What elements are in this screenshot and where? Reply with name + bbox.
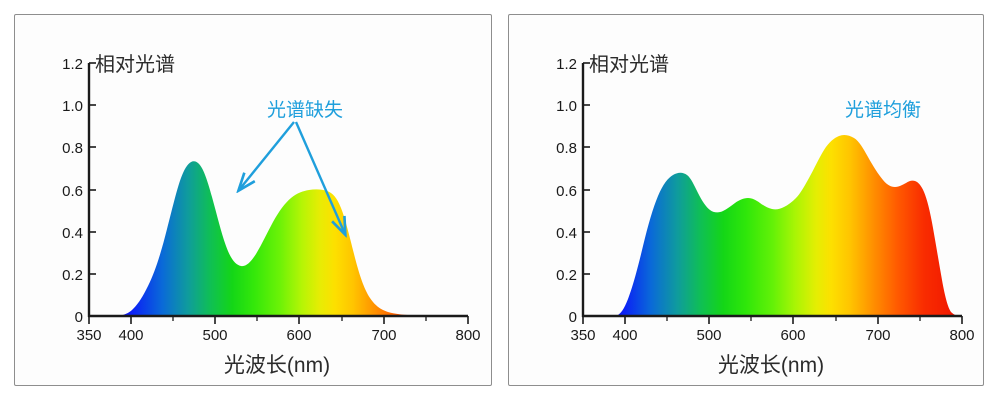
x-tick-600: 600 xyxy=(286,327,311,344)
x-tick-700: 700 xyxy=(371,327,396,344)
y-tick-0: 0 xyxy=(75,309,83,326)
spectrum-curve-area xyxy=(89,161,456,316)
y-tick-labels-left: 1.2 1.0 0.8 0.6 0.4 0.2 0 xyxy=(62,56,83,326)
x-tick-350: 350 xyxy=(570,327,595,344)
spectrum-chart-deficient: 光谱缺失 相对光谱 xyxy=(15,15,491,385)
y-tick-0.8: 0.8 xyxy=(556,140,577,157)
x-tick-800: 800 xyxy=(949,327,974,344)
x-tick-400: 400 xyxy=(612,327,637,344)
y-tick-0.4: 0.4 xyxy=(556,225,577,242)
y-tick-0.6: 0.6 xyxy=(62,183,83,200)
chart-panel-right: 光谱均衡 相对光谱 xyxy=(508,14,984,386)
chart-panel-left: 光谱缺失 相对光谱 xyxy=(14,14,492,386)
x-tick-labels-right: 350 400 500 600 700 800 xyxy=(570,327,974,344)
plot-title-left: 相对光谱 xyxy=(95,53,175,76)
y-tick-1.2: 1.2 xyxy=(556,56,577,73)
spectrum-curve-area xyxy=(583,135,962,316)
annotation-label-right: 光谱均衡 xyxy=(845,99,921,121)
spectrum-chart-balanced: 光谱均衡 相对光谱 xyxy=(509,15,983,385)
x-tick-600: 600 xyxy=(780,327,805,344)
x-tick-labels-left: 350 400 500 600 700 800 xyxy=(76,327,480,344)
x-tick-700: 700 xyxy=(865,327,890,344)
y-tick-1.2: 1.2 xyxy=(62,56,83,73)
x-axis-title-right: 光波长(nm) xyxy=(718,354,824,377)
y-tick-0.2: 0.2 xyxy=(556,267,577,284)
y-tick-labels-right: 1.2 1.0 0.8 0.6 0.4 0.2 0 xyxy=(556,56,577,326)
y-tick-0.2: 0.2 xyxy=(62,267,83,284)
x-axis-title-left: 光波长(nm) xyxy=(224,354,330,377)
x-tick-500: 500 xyxy=(696,327,721,344)
figure-root: 光谱缺失 相对光谱 xyxy=(0,0,1000,401)
y-tick-0: 0 xyxy=(569,309,577,326)
y-tick-0.6: 0.6 xyxy=(556,183,577,200)
plot-title-right: 相对光谱 xyxy=(589,53,669,76)
y-tick-0.8: 0.8 xyxy=(62,140,83,157)
y-tick-0.4: 0.4 xyxy=(62,225,83,242)
x-tick-350: 350 xyxy=(76,327,101,344)
annotation-arrow-left-1 xyxy=(239,122,294,190)
x-tick-400: 400 xyxy=(118,327,143,344)
x-tick-500: 500 xyxy=(202,327,227,344)
annotation-label-left: 光谱缺失 xyxy=(267,99,343,121)
y-tick-1.0: 1.0 xyxy=(62,98,83,115)
y-tick-1.0: 1.0 xyxy=(556,98,577,115)
x-tick-800: 800 xyxy=(455,327,480,344)
